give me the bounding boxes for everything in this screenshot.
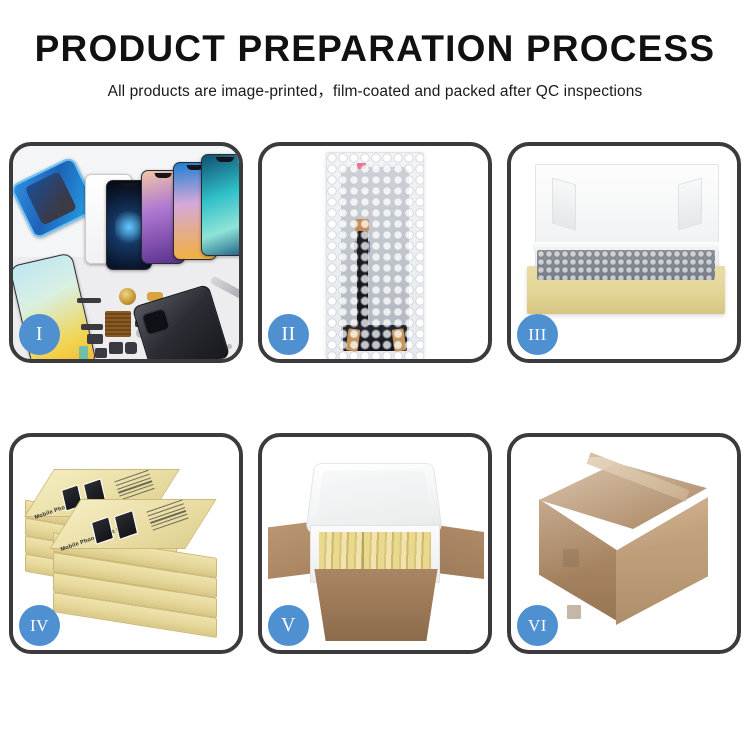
carton-body: [306, 569, 446, 641]
process-step-grid: I II: [9, 142, 741, 654]
page-title: PRODUCT PREPARATION PROCESS: [0, 30, 750, 69]
foam-lid-open: [305, 463, 443, 534]
step-badge-2: II: [268, 314, 309, 355]
yellow-kraft-tray: [527, 266, 725, 314]
phone-notch-icon: [155, 173, 172, 178]
process-step-panel-4: Mobile Phone Spare Parts Mobile Phone Sp…: [9, 433, 243, 654]
process-step-panel-5: V: [258, 433, 492, 654]
lcd-screen-assembly: [341, 167, 409, 345]
step-badge-1: I: [19, 314, 60, 355]
battery-connector-part: [125, 342, 137, 354]
screw-set-part: [95, 348, 107, 358]
carton-seam-mark: [567, 605, 581, 619]
phone-notch-icon: [216, 157, 234, 162]
bubble-wrapped-contents: [537, 250, 715, 280]
packed-kraft-boxes: [319, 532, 431, 574]
process-step-panel-3: III: [507, 142, 741, 363]
header: PRODUCT PREPARATION PROCESS All products…: [0, 0, 750, 101]
bubble-wrap-bag: [326, 152, 424, 359]
earpiece-mesh-part: [77, 298, 101, 303]
step-badge-4: IV: [19, 605, 60, 646]
sim-tray-part: [109, 342, 123, 354]
button-part: [79, 346, 88, 359]
kapton-tape-part: [355, 219, 369, 231]
page-subtitle: All products are image-printed，film-coat…: [0, 79, 750, 101]
logic-board-chip-part: [105, 311, 131, 337]
speaker-part: [119, 288, 136, 305]
phone-notch-icon: [120, 183, 138, 188]
phone-display-teal: [201, 154, 239, 256]
lid-flap-left: [552, 178, 576, 231]
process-step-panel-1: I: [9, 142, 243, 363]
camera-module-part: [87, 334, 103, 344]
display-flex-cable: [357, 231, 368, 335]
process-step-panel-6: VI: [507, 433, 741, 654]
step-badge-3: III: [517, 314, 558, 355]
step-badge-5: V: [268, 605, 309, 646]
step-badge-6: VI: [517, 605, 558, 646]
process-step-panel-2: II: [258, 142, 492, 363]
carton-seam-mark: [563, 549, 579, 567]
pink-label-sticker: [357, 163, 366, 169]
flex-ribbon-part: [81, 324, 103, 330]
lid-flap-right: [678, 178, 702, 231]
